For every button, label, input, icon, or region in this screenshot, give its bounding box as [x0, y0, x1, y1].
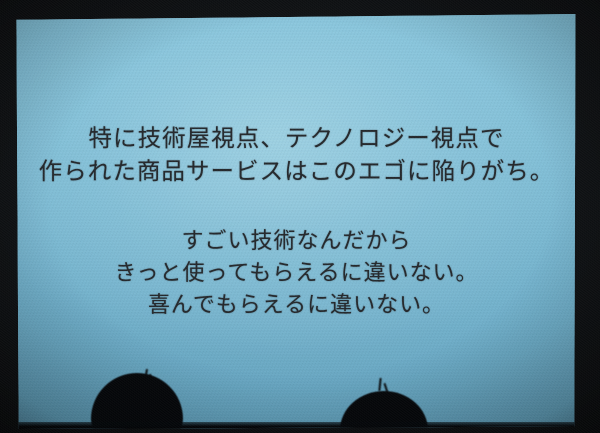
slide-text-block: 特に技術屋視点、テクノロジー視点で 作られた商品サービスはこのエゴに陥りがち。 …	[13, 122, 580, 322]
slide-line-2: 作られた商品サービスはこのエゴに陥りがち。	[13, 155, 580, 188]
slide-line-4: きっと使ってもらえるに違いない。	[13, 258, 580, 290]
projection-screen: 特に技術屋視点、テクノロジー視点で 作られた商品サービスはこのエゴに陥りがち。 …	[13, 14, 580, 429]
slide-line-1: 特に技術屋視点、テクノロジー視点で	[13, 122, 580, 155]
audience-silhouettes	[13, 339, 580, 429]
slide-line-3: すごい技術なんだから	[13, 226, 580, 258]
slide-paragraph-lead: 特に技術屋視点、テクノロジー視点で 作られた商品サービスはこのエゴに陥りがち。	[13, 122, 580, 188]
slide-paragraph-follow: すごい技術なんだから きっと使ってもらえるに違いない。 喜んでもらえるに違いない…	[13, 226, 580, 322]
paragraph-spacer	[13, 188, 580, 226]
audience-head-left-silhouette	[91, 373, 183, 429]
slide-photo: 特に技術屋視点、テクノロジー視点で 作られた商品サービスはこのエゴに陥りがち。 …	[0, 0, 600, 433]
slide-line-5: 喜んでもらえるに違いない。	[13, 290, 580, 322]
hair-wisp	[378, 378, 381, 391]
